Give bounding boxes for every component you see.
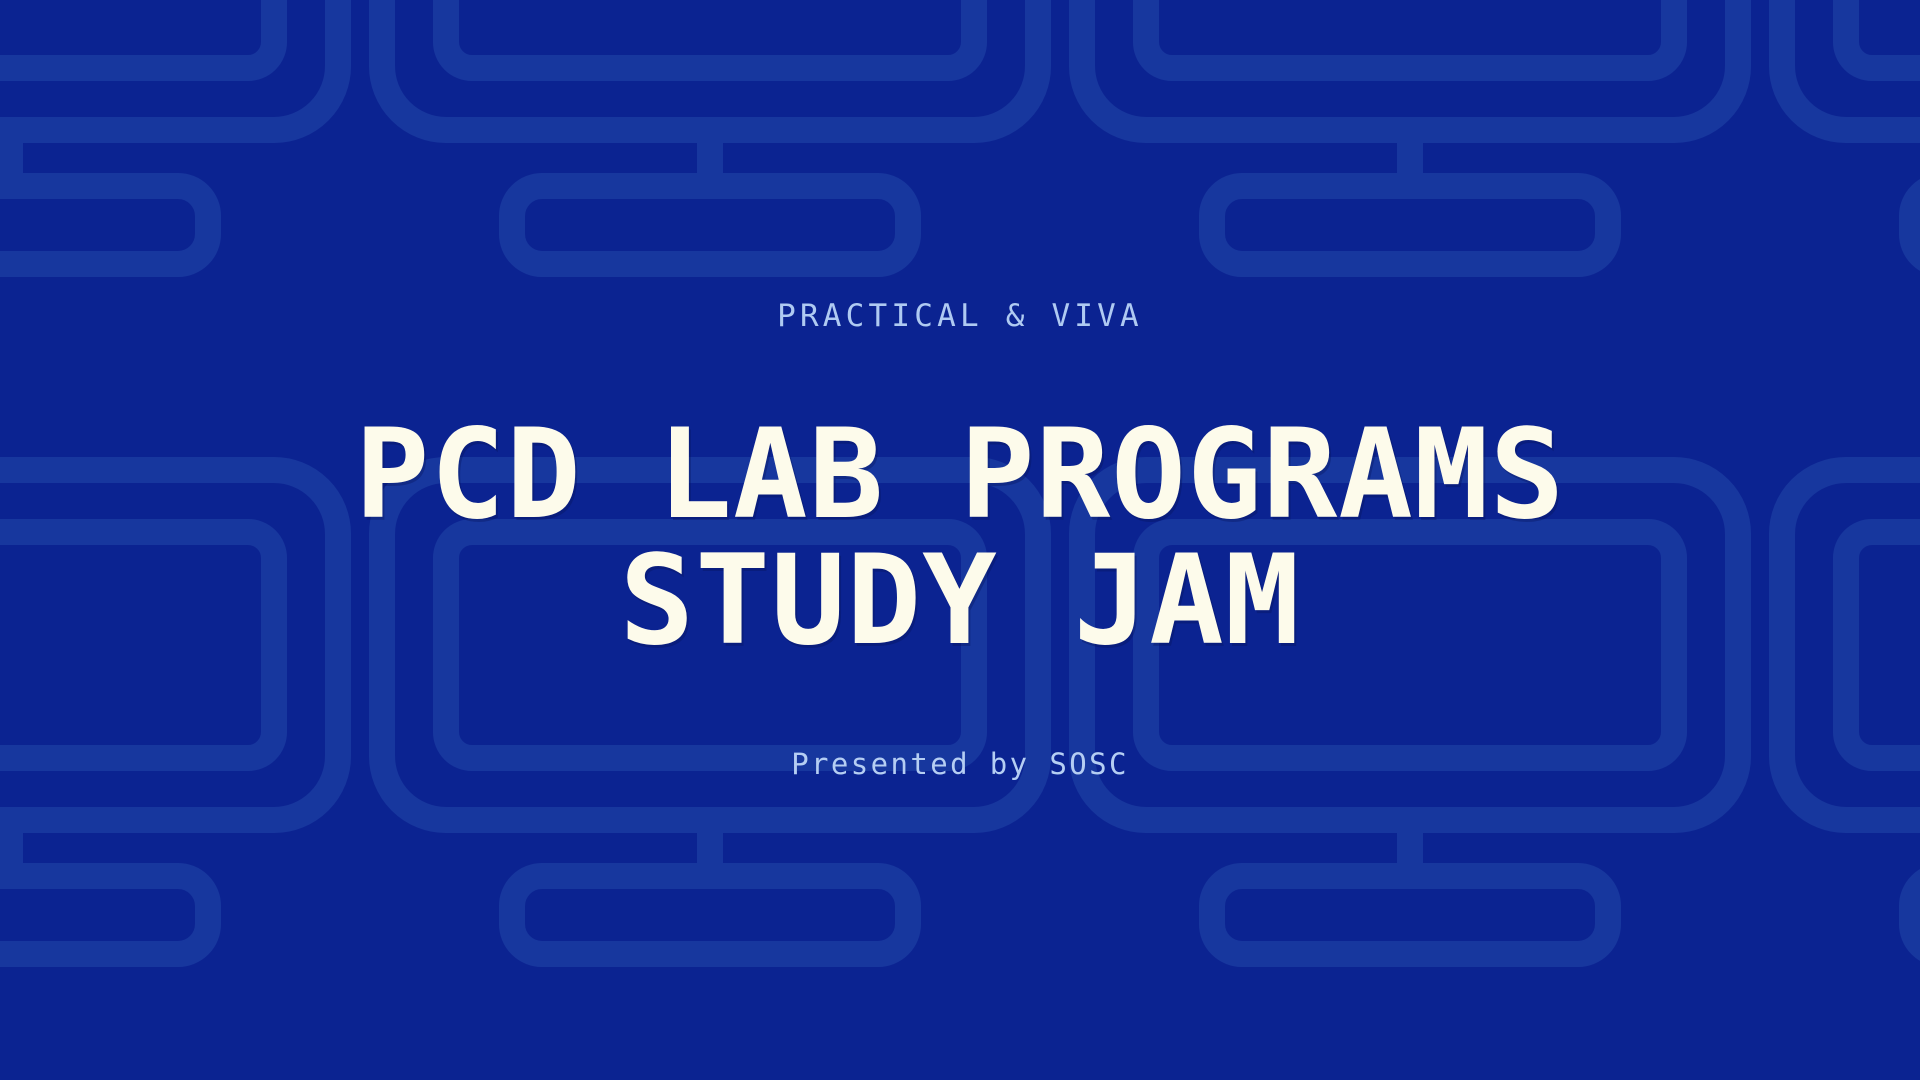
title-line-1: PCD LAB PROGRAMS [355,412,1565,538]
slide-eyebrow: PRACTICAL & VIVA [777,301,1143,332]
title-line-2: STUDY JAM [355,538,1565,664]
slide-byline: Presented by SOSC [791,750,1129,779]
slide-content: PRACTICAL & VIVA PCD LAB PROGRAMS STUDY … [0,0,1920,1080]
page-title: PCD LAB PROGRAMS STUDY JAM [355,412,1565,665]
presentation-title-slide: PRACTICAL & VIVA PCD LAB PROGRAMS STUDY … [0,0,1920,1080]
